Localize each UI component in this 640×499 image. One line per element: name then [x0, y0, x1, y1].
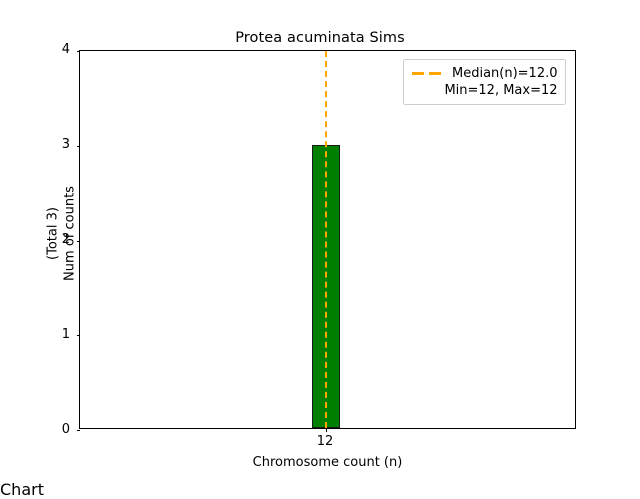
- legend-label-median: Median(n)=12.0: [452, 66, 558, 81]
- y-tick-label-4: 4: [40, 42, 70, 57]
- y-tick-label-1: 1: [40, 327, 70, 342]
- y-tick-mark-1: [77, 335, 81, 336]
- x-tick-label-12: 12: [310, 434, 340, 449]
- y-tick-label-0: 0: [40, 422, 70, 437]
- median-line: [325, 51, 327, 428]
- y-tick-mark-0: [77, 430, 81, 431]
- legend[interactable]: Median(n)=12.0 Min=12, Max=12: [403, 59, 566, 105]
- y-tick-mark-2: [77, 241, 81, 242]
- y-tick-mark-3: [77, 146, 81, 147]
- chart-figure: Protea acuminata Sims Num of counts (Tot…: [0, 0, 640, 480]
- page-title: Protea acuminata Sims: [0, 30, 640, 46]
- legend-label-minmax: Min=12, Max=12: [444, 83, 557, 98]
- x-axis-label: Chromosome count (n): [79, 455, 576, 470]
- dashed-line-icon: [411, 65, 444, 82]
- y-tick-label-3: 3: [40, 137, 70, 152]
- y-tick-label-2: 2: [40, 232, 70, 247]
- plot-area: Median(n)=12.0 Min=12, Max=12: [79, 50, 576, 429]
- legend-item-minmax: Min=12, Max=12: [411, 82, 558, 99]
- y-tick-mark-4: [77, 51, 81, 52]
- x-tick-mark-12: [326, 428, 327, 432]
- legend-item-median: Median(n)=12.0: [411, 65, 558, 82]
